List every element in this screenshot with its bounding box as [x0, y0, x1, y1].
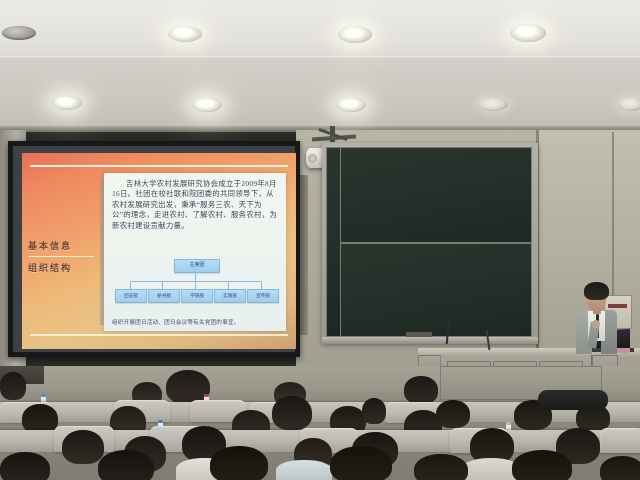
slide-bottom-rule — [30, 334, 288, 336]
slide-body-text: 吉林大学农村发展研究协会成立于2009年8月16日。社团在校社联和院团委的共同领… — [112, 179, 278, 231]
ceiling-downlight — [338, 26, 372, 43]
blackboard-panel-upper — [340, 147, 532, 243]
presenter-person — [572, 282, 620, 354]
org-connector-drop — [195, 281, 196, 289]
ceiling-downlight — [336, 98, 366, 112]
audience-head — [0, 452, 50, 480]
org-connector-vertical — [195, 271, 196, 281]
ceiling-front-soffit — [0, 58, 640, 130]
audience-head — [98, 450, 154, 480]
audience-head — [600, 456, 640, 480]
org-connector-drop — [130, 281, 131, 289]
slide-content-card: 吉林大学农村发展研究协会成立于2009年8月16日。社团在校社联和院团委的共同领… — [104, 173, 286, 331]
ceiling-downlight — [168, 26, 202, 42]
audience-head — [404, 376, 438, 404]
blackboard-panel-lower — [340, 243, 532, 337]
org-connector-drop — [162, 281, 163, 289]
ceiling-downlight — [510, 24, 546, 42]
audience-area — [0, 366, 640, 480]
audience-head — [330, 446, 392, 480]
chalk-eraser[interactable] — [406, 332, 432, 337]
slide-sidebar-item-basic-info: 基本信息 — [28, 237, 100, 255]
backpack[interactable] — [538, 390, 608, 410]
ceiling-downlight — [52, 96, 82, 110]
org-node-department: 宣传部 — [247, 289, 279, 303]
blackboard-frame — [322, 143, 538, 343]
ceiling-downlight — [192, 98, 222, 112]
audience-head — [272, 396, 312, 430]
ceiling-downlight — [478, 98, 508, 111]
projection-screen-surface: 基本信息 组织结构 吉林大学农村发展研究协会成立于2009年8月16日。社团在校… — [13, 146, 295, 352]
presentation-slide: 基本信息 组织结构 吉林大学农村发展研究协会成立于2009年8月16日。社团在校… — [22, 153, 296, 349]
audience-shoulders — [276, 460, 332, 480]
audience-head — [0, 372, 26, 400]
chalk-rail — [322, 337, 538, 344]
audience-head — [414, 454, 468, 480]
audience-head — [512, 450, 572, 480]
presenter-hand — [592, 320, 600, 328]
org-node-department: 实践部 — [214, 289, 246, 303]
audience-head — [210, 446, 268, 480]
slide-sidebar-item-org-structure: 组织结构 — [28, 259, 100, 277]
slide-sidebar-divider — [28, 256, 94, 257]
smoke-detector-icon — [2, 26, 36, 40]
audience-head — [62, 430, 104, 464]
slide-caption: 组织开展团日活动、团日会议等有关党团的事宜。 — [112, 318, 278, 326]
org-connector-drop — [228, 281, 229, 289]
audience-seat[interactable] — [600, 428, 640, 453]
presenter-hair — [584, 282, 609, 300]
blackboard-side-panel — [300, 175, 308, 335]
projection-screen: 基本信息 组织结构 吉林大学农村发展研究协会成立于2009年8月16日。社团在校… — [8, 141, 300, 357]
org-chart: 主席团 团支部 秘书部 学研部 实践部 宣传部 — [112, 259, 280, 307]
slide-sidebar: 基本信息 组织结构 — [28, 237, 100, 277]
org-node-department: 学研部 — [181, 289, 213, 303]
lecture-hall-photo: 基本信息 组织结构 吉林大学农村发展研究协会成立于2009年8月16日。社团在校… — [0, 0, 640, 480]
ceiling-downlight — [618, 98, 640, 111]
org-connector-drop — [261, 281, 262, 289]
audience-head — [362, 398, 386, 424]
org-node-department: 秘书部 — [148, 289, 180, 303]
slide-top-rule — [30, 165, 288, 167]
org-node-department: 团支部 — [115, 289, 147, 303]
blackboard-panel-side — [326, 147, 341, 337]
org-node-root: 主席团 — [174, 259, 220, 273]
